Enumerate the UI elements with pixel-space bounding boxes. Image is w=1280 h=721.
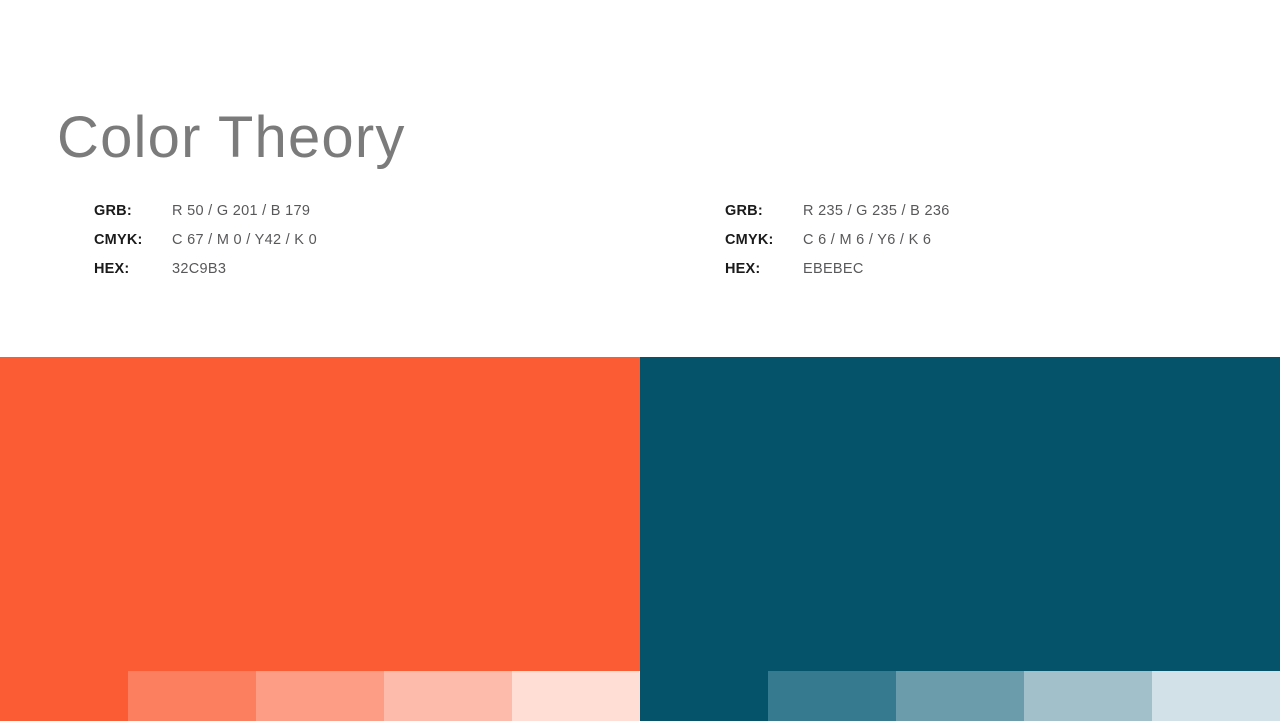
slide-canvas: Color Theory GRB: R 50 / G 201 / B 179 C… — [0, 0, 1280, 721]
spec-label-hex: HEX: — [94, 261, 172, 277]
secondary-color-panel — [640, 357, 1280, 721]
spec-value-rgb: R 50 / G 201 / B 179 — [172, 203, 310, 219]
tint-swatch — [256, 671, 384, 721]
spec-row: GRB: R 50 / G 201 / B 179 — [94, 203, 317, 232]
tint-swatch — [1152, 671, 1280, 721]
primary-tint-strip — [128, 671, 640, 721]
spec-value-cmyk: C 6 / M 6 / Y6 / K 6 — [803, 232, 931, 248]
primary-color-panel — [0, 357, 640, 721]
secondary-color-spec: GRB: R 235 / G 235 / B 236 CMYK: C 6 / M… — [725, 203, 950, 290]
spec-row: CMYK: C 6 / M 6 / Y6 / K 6 — [725, 232, 950, 261]
tint-swatch — [128, 671, 256, 721]
tint-swatch — [1024, 671, 1152, 721]
page-title: Color Theory — [57, 103, 406, 173]
spec-value-cmyk: C 67 / M 0 / Y42 / K 0 — [172, 232, 317, 248]
spec-row: CMYK: C 67 / M 0 / Y42 / K 0 — [94, 232, 317, 261]
spec-value-rgb: R 235 / G 235 / B 236 — [803, 203, 950, 219]
spec-row: HEX: EBEBEC — [725, 261, 950, 290]
spec-row: GRB: R 235 / G 235 / B 236 — [725, 203, 950, 232]
spec-value-hex: EBEBEC — [803, 261, 864, 277]
spec-label-hex: HEX: — [725, 261, 803, 277]
tint-swatch — [512, 671, 640, 721]
spec-value-hex: 32C9B3 — [172, 261, 226, 277]
tint-swatch — [384, 671, 512, 721]
spec-label-rgb: GRB: — [725, 203, 803, 219]
tint-swatch — [896, 671, 1024, 721]
primary-color-spec: GRB: R 50 / G 201 / B 179 CMYK: C 67 / M… — [94, 203, 317, 290]
tint-swatch — [768, 671, 896, 721]
spec-label-cmyk: CMYK: — [94, 232, 172, 248]
color-panels — [0, 357, 1280, 721]
spec-label-cmyk: CMYK: — [725, 232, 803, 248]
secondary-tint-strip — [768, 671, 1280, 721]
spec-label-rgb: GRB: — [94, 203, 172, 219]
spec-row: HEX: 32C9B3 — [94, 261, 317, 290]
